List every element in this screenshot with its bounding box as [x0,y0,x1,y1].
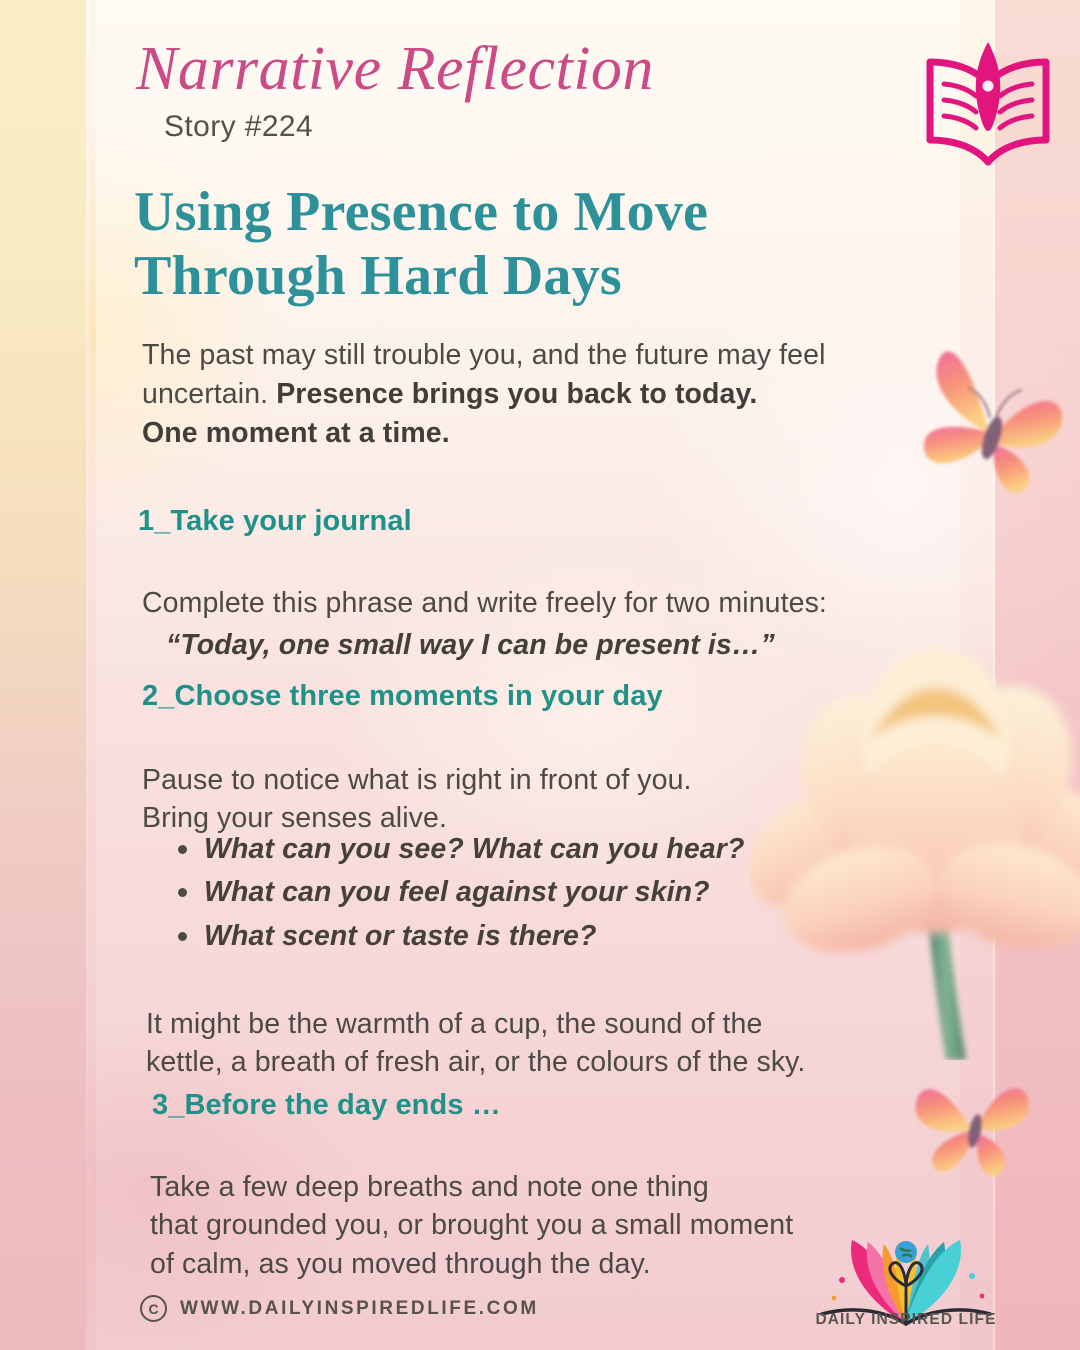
step-2-label: 2_Choose three moments in your day [142,680,663,713]
step-3-line-2: that grounded you, or brought you a smal… [150,1209,793,1241]
poster: Narrative Reflection Story #224 Using Pr… [0,0,1080,1350]
step-2-line-1: Pause to notice what is right in front o… [142,764,692,796]
open-book-with-pen-nib-icon [914,36,1062,174]
intro-bold-1: Presence brings you back to today. [276,378,757,410]
senses-list: What can you see? What can you hear? Wha… [160,828,964,958]
step-1-quote: “Today, one small way I can be present i… [166,626,962,665]
step-3-line-1: Take a few deep breaths and note one thi… [150,1171,709,1203]
list-item: What can you feel against your skin? [204,871,964,914]
page-title: Using Presence to Move Through Hard Days [134,180,894,309]
intro-bold-2: One moment at a time. [142,417,450,449]
copyright-icon: C [140,1295,167,1322]
list-item: What scent or taste is there? [204,915,964,958]
step-1-body: Complete this phrase and write freely fo… [142,584,962,666]
step-2-closing-line-1: It might be the warmth of a cup, the sou… [146,1008,762,1040]
step-2-closing: It might be the warmth of a cup, the sou… [146,1005,936,1083]
list-item: What can you see? What can you hear? [204,828,964,871]
content-body: The past may still trouble you, and the … [0,336,1080,452]
step-3-label: 3_Before the day ends … [152,1089,501,1122]
step-2-closing-line-2: kettle, a breath of fresh air, or the co… [146,1046,805,1078]
website-url[interactable]: WWW.DAILYINSPIREDLIFE.COM [180,1298,539,1320]
story-number: Story #224 [164,110,313,144]
page-kicker: Narrative Reflection [136,38,654,100]
step-1-label: 1_Take your journal [138,505,412,538]
step-3-line-3: of calm, as you moved through the day. [150,1248,651,1280]
footer-website[interactable]: C WWW.DAILYINSPIREDLIFE.COM [140,1295,539,1322]
background-left-band [0,0,86,1350]
background-left-band-edge [86,0,89,1350]
logo-wordmark: DAILY INSPIRED LIFE [812,1311,1000,1329]
step-2-body: Pause to notice what is right in front o… [142,761,902,839]
step-1-instruction: Complete this phrase and write freely fo… [142,587,827,619]
intro-paragraph: The past may still trouble you, and the … [142,336,942,452]
background-right-band [995,0,1080,1350]
